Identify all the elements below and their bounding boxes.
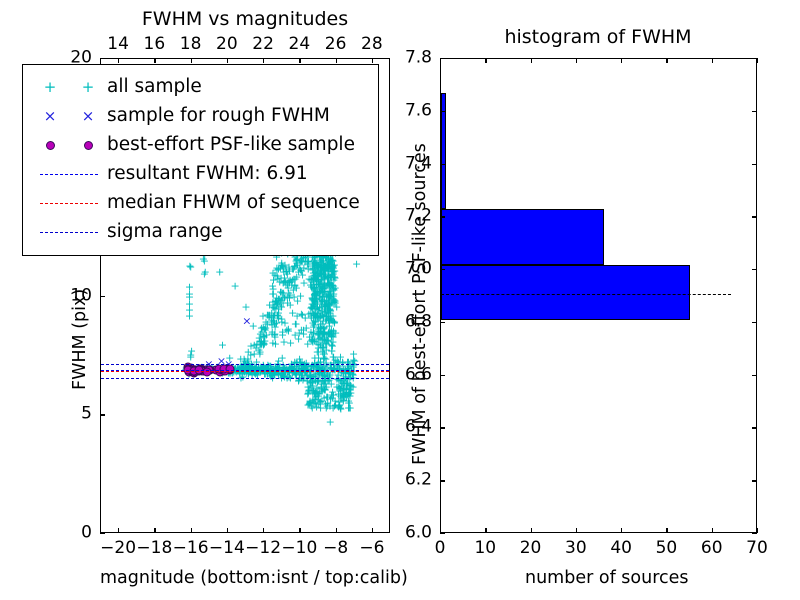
legend-label: resultant FWHM: 6.91 <box>107 165 308 184</box>
reference-line-sigma-range-lower <box>101 378 389 379</box>
scatter-point-all-sample: + <box>276 263 285 274</box>
filled-circle-icon <box>84 141 93 150</box>
legend-row: sigma range <box>31 218 368 247</box>
scatter-ytick <box>100 414 105 415</box>
scatter-point-all-sample: + <box>215 266 224 277</box>
hist-yticklabel: 7.4 <box>405 155 432 172</box>
legend-row: ++all sample <box>31 73 368 102</box>
scatter-xtick <box>227 528 228 533</box>
scatter-point-all-sample: + <box>185 304 194 315</box>
left-plot-title: FWHM vs magnitudes <box>142 8 348 30</box>
hist-ytick-mirror <box>752 375 757 376</box>
scatter-top-xtick <box>372 58 373 63</box>
reference-line-sigma-range-upper <box>101 364 389 365</box>
scatter-xticklabel: −20 <box>100 540 136 557</box>
scatter-ytick <box>100 296 105 297</box>
hist-ytick <box>440 216 445 217</box>
reference-line-median-fhwm-of-sequence <box>101 371 389 372</box>
scatter-top-xtick <box>118 58 119 63</box>
scatter-point-all-sample: + <box>186 261 195 272</box>
legend-key-cross-icon: ×× <box>31 102 107 131</box>
legend-key-dashed-line-icon <box>31 189 107 218</box>
cross-icon: × <box>44 109 57 124</box>
scatter-point-all-sample: + <box>252 339 261 350</box>
hist-xtick <box>531 528 532 533</box>
scatter-point-all-sample: + <box>218 340 227 351</box>
scatter-point-all-sample: + <box>315 290 324 301</box>
hist-ytick-mirror <box>752 111 757 112</box>
plus-icon: + <box>44 80 57 95</box>
histogram-axes <box>440 58 757 533</box>
hist-ytick-mirror <box>752 533 757 534</box>
scatter-top-xticklabel: 26 <box>325 36 347 53</box>
scatter-yticklabel: 0 <box>81 525 92 542</box>
scatter-top-xticklabel: 20 <box>216 36 238 53</box>
hist-yticklabel: 6.0 <box>405 525 432 542</box>
scatter-top-xtick <box>336 58 337 63</box>
hist-xticklabel: 30 <box>565 540 587 557</box>
scatter-top-xticklabel: 18 <box>180 36 202 53</box>
scatter-top-xtick <box>154 58 155 63</box>
scatter-xticklabel: −12 <box>245 540 281 557</box>
hist-xtick-mirror <box>440 58 441 63</box>
cross-icon: × <box>82 109 95 124</box>
hist-xtick <box>757 528 758 533</box>
scatter-point-all-sample: + <box>185 291 194 302</box>
scatter-point-all-sample: + <box>321 384 330 395</box>
hist-xticklabel: 10 <box>474 540 496 557</box>
hist-ytick-mirror <box>752 269 757 270</box>
hist-ytick <box>440 480 445 481</box>
hist-ytick-mirror <box>752 480 757 481</box>
hist-yticklabel: 6.4 <box>405 419 432 436</box>
scatter-point-all-sample: + <box>304 258 313 269</box>
histogram-data-area <box>441 59 756 532</box>
scatter-point-all-sample: + <box>347 380 356 391</box>
scatter-point-all-sample: + <box>324 327 333 338</box>
scatter-point-all-sample: + <box>322 301 331 312</box>
scatter-point-all-sample: + <box>326 286 335 297</box>
scatter-xticklabel: −16 <box>173 540 209 557</box>
scatter-point-all-sample: + <box>284 264 293 275</box>
scatter-top-xtick <box>227 58 228 63</box>
scatter-point-all-sample: + <box>307 281 316 292</box>
histogram-bar <box>441 265 690 320</box>
right-plot-title: histogram of FWHM <box>504 26 691 48</box>
legend-row: median FHWM of sequence <box>31 189 368 218</box>
hist-xticklabel: 20 <box>520 540 542 557</box>
histogram-bar <box>441 209 604 264</box>
figure-canvas: FWHM vs magnitudes +++++++++++++++++++++… <box>0 0 800 600</box>
scatter-point-all-sample: + <box>315 327 324 338</box>
scatter-point-all-sample: + <box>201 266 210 277</box>
left-xaxis-label: magnitude (bottom:isnt / top:calib) <box>100 568 408 588</box>
hist-xtick-mirror <box>712 58 713 63</box>
hist-xtick-mirror <box>531 58 532 63</box>
scatter-top-xticklabel: 14 <box>107 36 129 53</box>
hist-xtick-mirror <box>757 58 758 63</box>
scatter-top-xticklabel: 24 <box>289 36 311 53</box>
scatter-xtick <box>263 528 264 533</box>
hist-yticklabel: 6.8 <box>405 313 432 330</box>
scatter-point-all-sample: + <box>286 338 295 349</box>
scatter-point-all-sample: + <box>278 327 287 338</box>
hist-xtick-mirror <box>576 58 577 63</box>
hist-xticklabel: 60 <box>701 540 723 557</box>
scatter-xtick <box>372 528 373 533</box>
filled-circle-icon <box>46 141 55 150</box>
hist-xticklabel: 70 <box>746 540 768 557</box>
scatter-yticklabel: 10 <box>70 287 92 304</box>
scatter-ytick <box>100 533 105 534</box>
hist-xtick-mirror <box>621 58 622 63</box>
scatter-point-all-sample: + <box>311 304 320 315</box>
scatter-point-all-sample: + <box>284 275 293 286</box>
dashdot-line-icon <box>40 232 98 233</box>
hist-ytick <box>440 111 445 112</box>
scatter-xticklabel: −6 <box>359 540 384 557</box>
dashed-line-icon <box>40 174 98 175</box>
scatter-point-all-sample: + <box>308 403 317 414</box>
legend-key-dashdot-line-icon <box>31 218 107 247</box>
scatter-yticklabel: 5 <box>81 406 92 423</box>
scatter-point-all-sample: + <box>291 318 300 329</box>
scatter-point-all-sample: + <box>290 291 299 302</box>
hist-ytick <box>440 322 445 323</box>
hist-ytick-mirror <box>752 427 757 428</box>
scatter-point-all-sample: + <box>241 302 250 313</box>
scatter-top-xtick <box>299 58 300 63</box>
hist-yticklabel: 7.2 <box>405 208 432 225</box>
hist-xticklabel: 0 <box>435 540 446 557</box>
legend-key-dashed-line-icon <box>31 160 107 189</box>
legend-label: sample for rough FWHM <box>107 107 330 126</box>
scatter-point-all-sample: + <box>231 280 240 291</box>
scatter-top-xtick <box>191 58 192 63</box>
scatter-point-rough-fwhm: × <box>242 316 251 327</box>
hist-ytick-mirror <box>752 216 757 217</box>
scatter-xtick <box>299 528 300 533</box>
legend-key-plus-icon: ++ <box>31 73 107 102</box>
hist-xtick <box>485 528 486 533</box>
right-xaxis-label: number of sources <box>525 568 689 588</box>
hist-yticklabel: 7.6 <box>405 102 432 119</box>
legend-label: sigma range <box>107 223 223 242</box>
legend-row: ××sample for rough FWHM <box>31 102 368 131</box>
scatter-point-all-sample: + <box>302 322 311 333</box>
legend-row: resultant FWHM: 6.91 <box>31 160 368 189</box>
hist-xtick-mirror <box>666 58 667 63</box>
hist-xtick <box>666 528 667 533</box>
hist-yticklabel: 6.6 <box>405 366 432 383</box>
scatter-xtick <box>118 528 119 533</box>
scatter-top-xticklabel: 22 <box>252 36 274 53</box>
scatter-point-all-sample: + <box>270 330 279 341</box>
hist-xtick <box>712 528 713 533</box>
plus-icon: + <box>82 80 95 95</box>
legend-box: ++all sample××sample for rough FWHMbest-… <box>22 64 379 256</box>
hist-ytick <box>440 375 445 376</box>
hist-yticklabel: 7.8 <box>405 50 432 67</box>
scatter-xticklabel: −18 <box>136 540 172 557</box>
hist-ytick <box>440 269 445 270</box>
hist-ytick <box>440 533 445 534</box>
hist-ytick <box>440 164 445 165</box>
legend-row: best-effort PSF-like sample <box>31 131 368 160</box>
hist-xticklabel: 40 <box>610 540 632 557</box>
hist-yticklabel: 7.0 <box>405 261 432 278</box>
scatter-xtick <box>336 528 337 533</box>
legend-key-filled-circle-icon <box>31 131 107 160</box>
hist-yticklabel: 6.2 <box>405 472 432 489</box>
hist-xticklabel: 50 <box>656 540 678 557</box>
hist-xtick <box>621 528 622 533</box>
histogram-reference-line <box>441 294 731 295</box>
hist-xtick-mirror <box>485 58 486 63</box>
scatter-xticklabel: −10 <box>281 540 317 557</box>
scatter-point-all-sample: + <box>352 259 361 270</box>
hist-xtick <box>576 528 577 533</box>
hist-ytick-mirror <box>752 164 757 165</box>
scatter-top-xtick <box>263 58 264 63</box>
hist-ytick-mirror <box>752 322 757 323</box>
scatter-point-all-sample: + <box>268 288 277 299</box>
scatter-xtick <box>154 528 155 533</box>
scatter-xticklabel: −14 <box>209 540 245 557</box>
legend-label: best-effort PSF-like sample <box>107 136 355 155</box>
legend-label: median FHWM of sequence <box>107 194 360 213</box>
hist-ytick <box>440 427 445 428</box>
scatter-point-all-sample: + <box>187 346 196 357</box>
dashed-line-icon <box>40 203 98 204</box>
scatter-point-all-sample: + <box>326 417 335 428</box>
scatter-xticklabel: −8 <box>323 540 348 557</box>
scatter-point-all-sample: + <box>307 384 316 395</box>
scatter-top-xticklabel: 16 <box>144 36 166 53</box>
scatter-xtick <box>191 528 192 533</box>
scatter-ytick <box>100 58 105 59</box>
scatter-point-all-sample: + <box>317 273 326 284</box>
scatter-top-xticklabel: 28 <box>361 36 383 53</box>
legend-label: all sample <box>107 78 202 97</box>
